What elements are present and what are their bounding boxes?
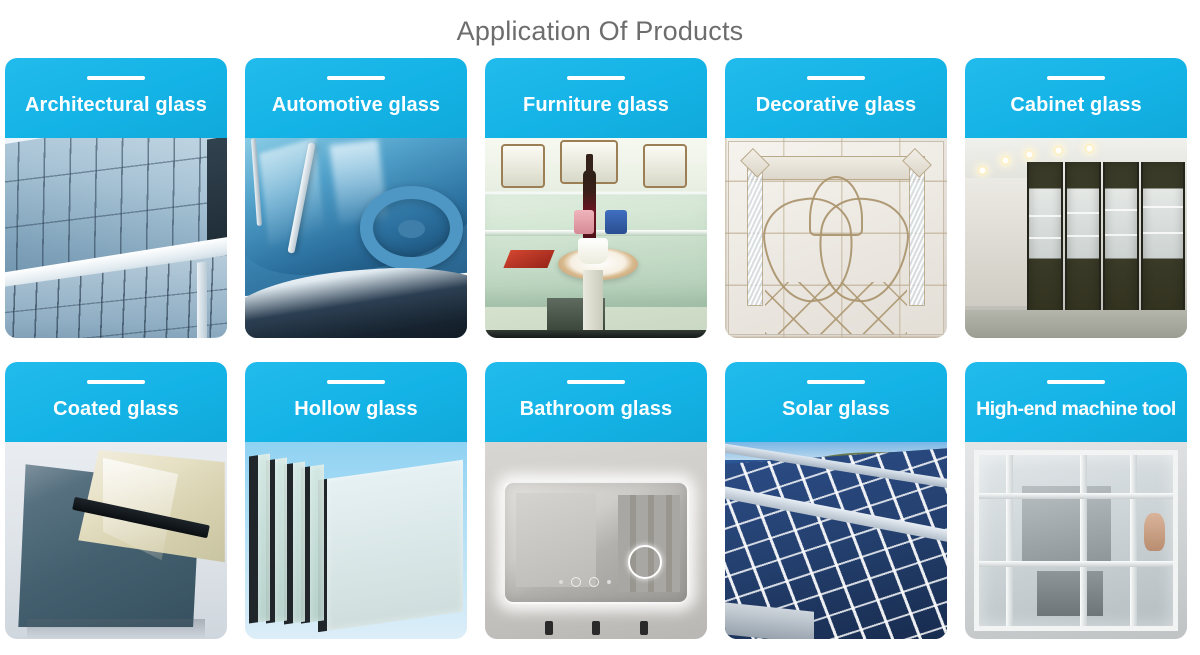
- header-rule-icon: [87, 76, 145, 80]
- header-rule-icon: [327, 76, 385, 80]
- header-rule-icon: [807, 76, 865, 80]
- card-cabinet-glass[interactable]: Cabinet glass: [965, 58, 1187, 338]
- mirror-control-dots: [559, 577, 611, 587]
- card-header-cabinet-glass: Cabinet glass: [965, 58, 1187, 138]
- card-image-bathroom-glass: [485, 442, 707, 639]
- card-title-architectural-glass: Architectural glass: [9, 94, 223, 117]
- card-hollow-glass[interactable]: Hollow glass: [245, 362, 467, 639]
- mirror-touch-ring-icon: [628, 545, 662, 579]
- card-automotive-glass[interactable]: Automotive glass: [245, 58, 467, 338]
- header-rule-icon: [327, 380, 385, 384]
- header-rule-icon: [1047, 76, 1105, 80]
- card-image-decorative-glass: [725, 138, 947, 338]
- card-title-furniture-glass: Furniture glass: [489, 94, 703, 117]
- application-of-products-section: Application Of Products Architectural gl…: [0, 0, 1200, 655]
- card-title-automotive-glass: Automotive glass: [249, 94, 463, 117]
- header-rule-icon: [567, 76, 625, 80]
- card-image-coated-glass: [5, 442, 227, 639]
- card-header-decorative-glass: Decorative glass: [725, 58, 947, 138]
- card-title-bathroom-glass: Bathroom glass: [489, 398, 703, 421]
- card-header-bathroom-glass: Bathroom glass: [485, 362, 707, 442]
- header-rule-icon: [1047, 380, 1105, 384]
- card-decorative-glass[interactable]: Decorative glass: [725, 58, 947, 338]
- header-rule-icon: [87, 380, 145, 384]
- card-image-cabinet-glass: [965, 138, 1187, 338]
- card-header-solar-glass: Solar glass: [725, 362, 947, 442]
- card-coated-glass[interactable]: Coated glass: [5, 362, 227, 639]
- card-image-high-end-machine-tool: [965, 442, 1187, 639]
- card-title-high-end-machine-tool: High-end machine tool: [969, 398, 1183, 421]
- card-furniture-glass[interactable]: Furniture glass: [485, 58, 707, 338]
- card-solar-glass[interactable]: Solar glass: [725, 362, 947, 639]
- card-title-hollow-glass: Hollow glass: [249, 398, 463, 421]
- card-header-high-end-machine-tool: High-end machine tool: [965, 362, 1187, 442]
- card-title-solar-glass: Solar glass: [729, 398, 943, 421]
- product-application-grid: Architectural glass Automotive glass: [5, 58, 1195, 639]
- card-high-end-machine-tool[interactable]: High-end machine tool: [965, 362, 1187, 639]
- card-title-coated-glass: Coated glass: [9, 398, 223, 421]
- card-header-hollow-glass: Hollow glass: [245, 362, 467, 442]
- card-header-automotive-glass: Automotive glass: [245, 58, 467, 138]
- page-title: Application Of Products: [0, 0, 1200, 58]
- card-image-furniture-glass: [485, 138, 707, 338]
- card-header-architectural-glass: Architectural glass: [5, 58, 227, 138]
- header-rule-icon: [567, 380, 625, 384]
- card-bathroom-glass[interactable]: Bathroom glass: [485, 362, 707, 639]
- card-header-coated-glass: Coated glass: [5, 362, 227, 442]
- card-image-automotive-glass: [245, 138, 467, 338]
- header-rule-icon: [807, 380, 865, 384]
- card-header-furniture-glass: Furniture glass: [485, 58, 707, 138]
- card-image-hollow-glass: [245, 442, 467, 639]
- card-image-solar-glass: [725, 442, 947, 639]
- led-mirror: [503, 481, 689, 603]
- card-title-decorative-glass: Decorative glass: [729, 94, 943, 117]
- card-architectural-glass[interactable]: Architectural glass: [5, 58, 227, 338]
- card-title-cabinet-glass: Cabinet glass: [969, 94, 1183, 117]
- card-image-architectural-glass: [5, 138, 227, 338]
